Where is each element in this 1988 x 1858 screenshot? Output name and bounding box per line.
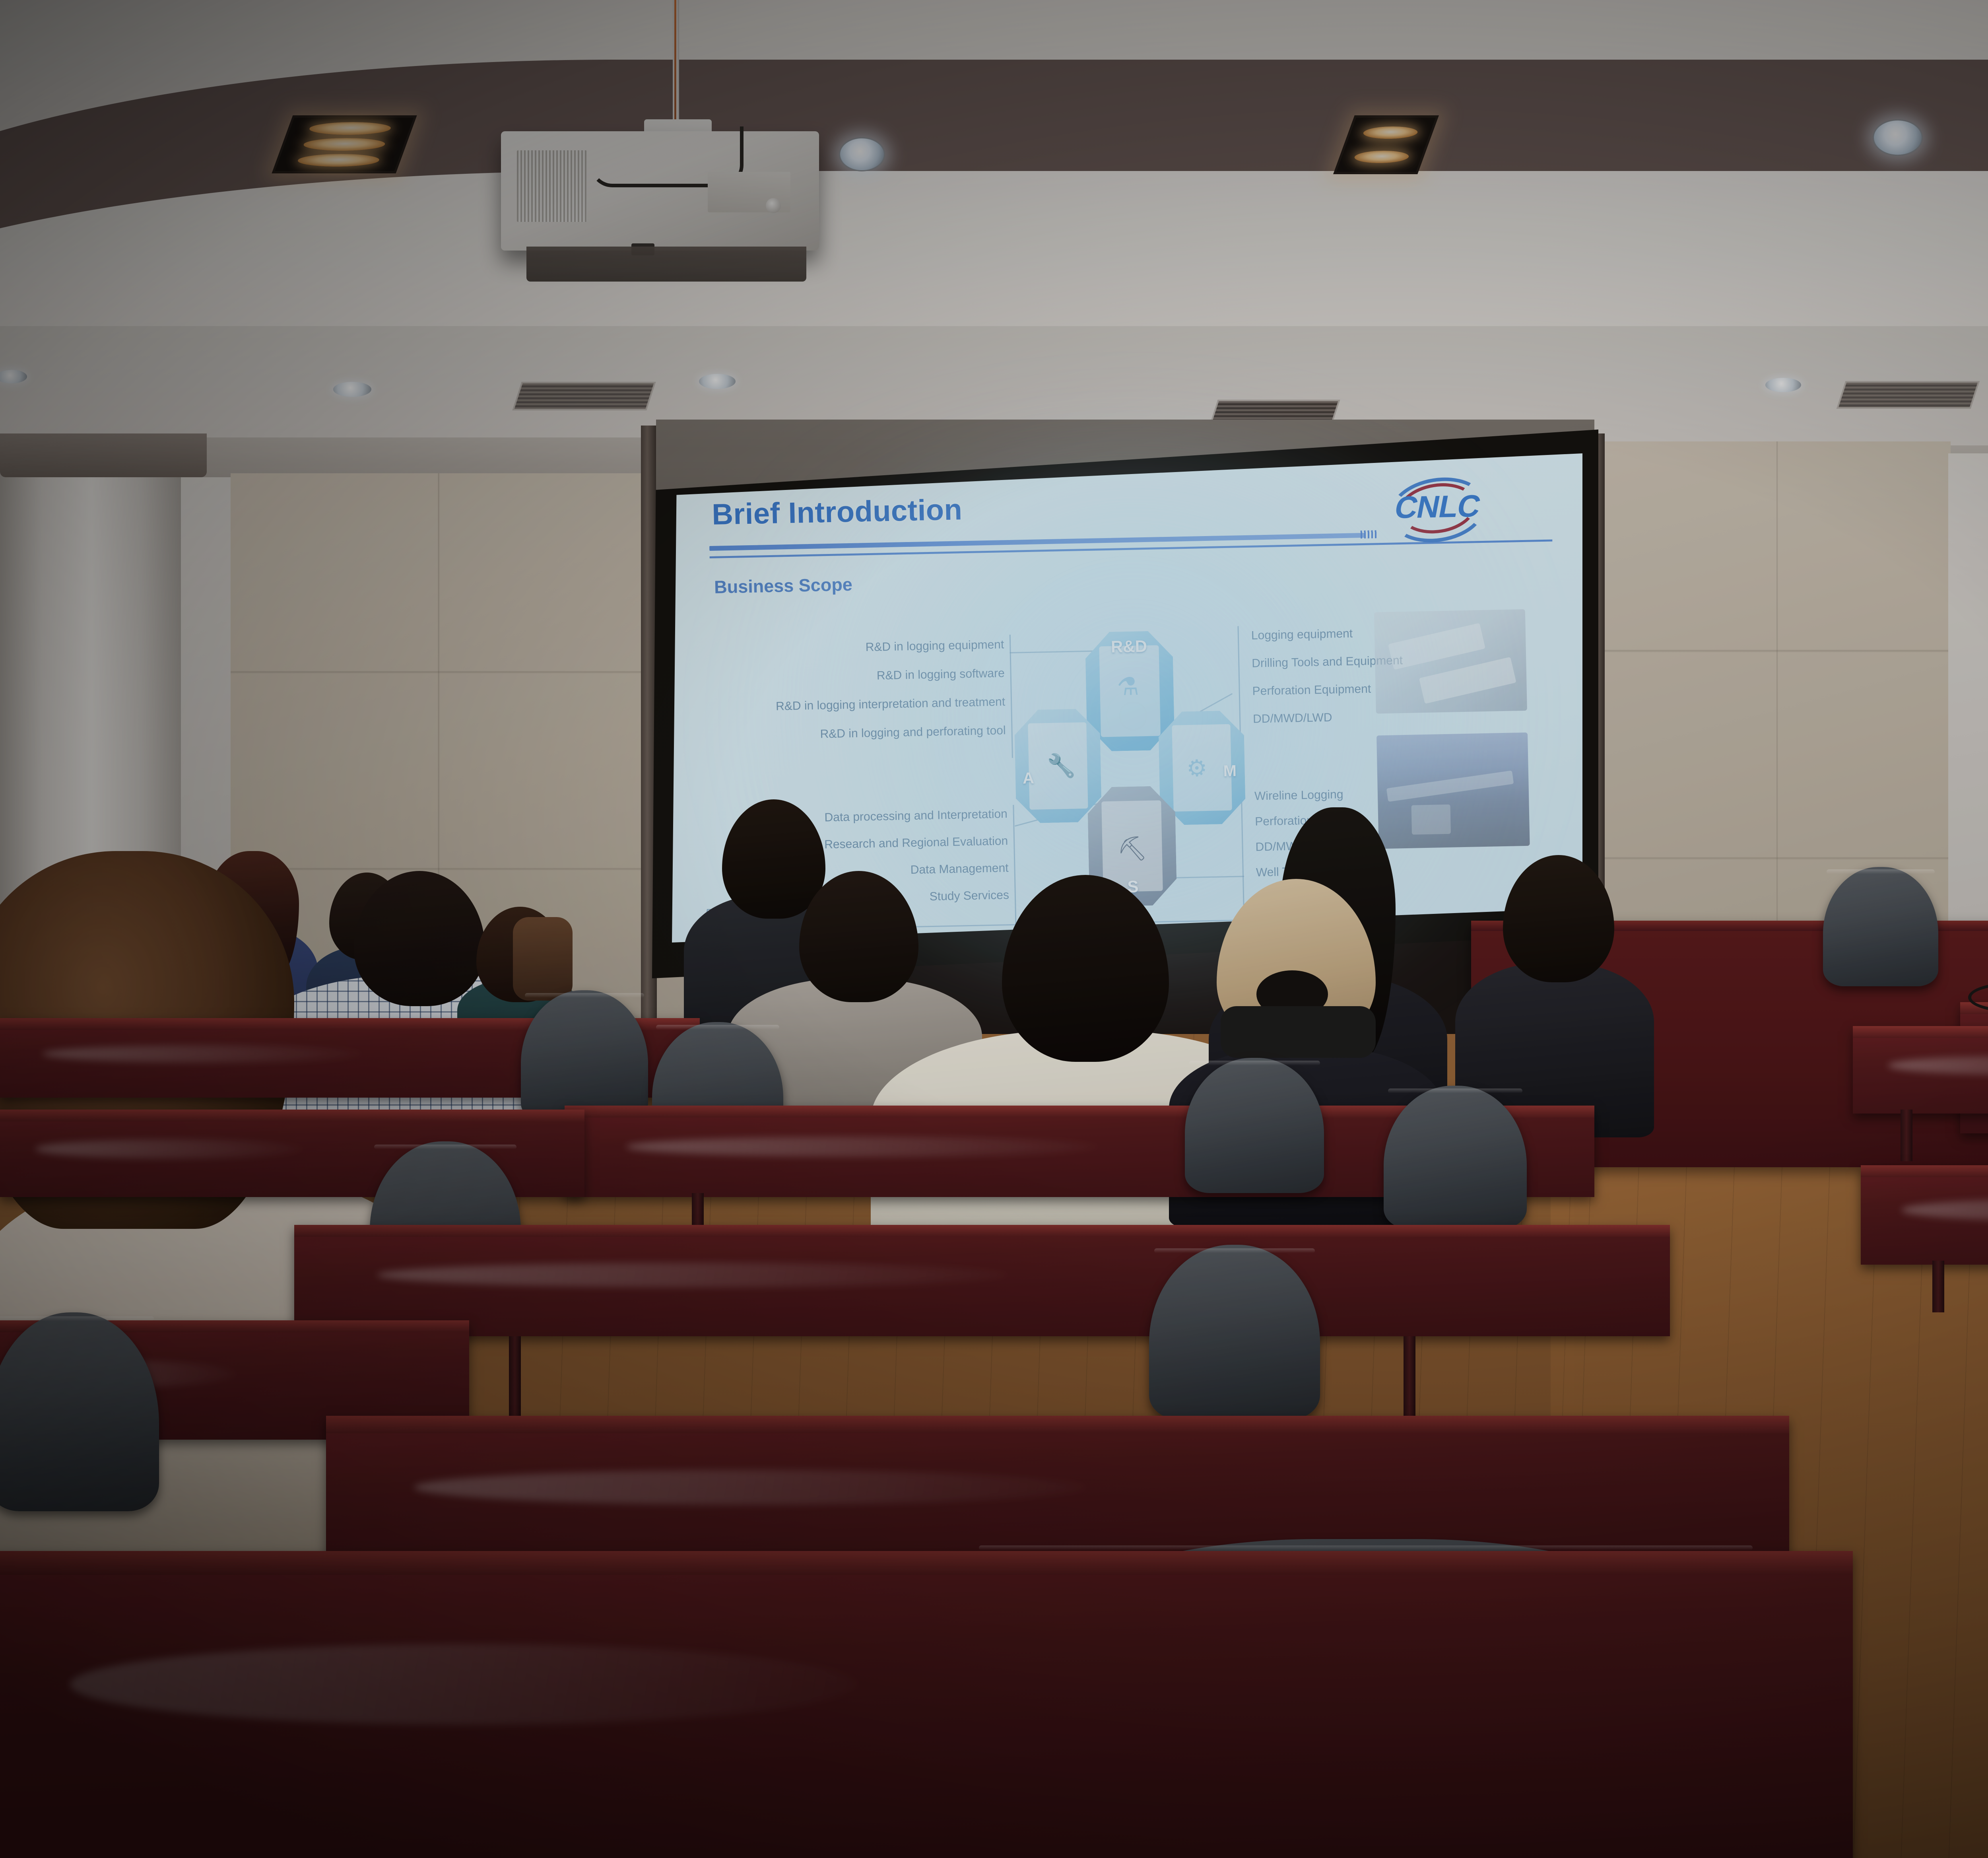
- audience-head: [1503, 855, 1614, 982]
- audience-head: [1002, 875, 1169, 1062]
- cap-strap: [1221, 1006, 1376, 1058]
- left-top-label-1: R&D in logging software: [877, 667, 1005, 682]
- downlight-near-projector-icon: [839, 137, 885, 171]
- slide-block-rd-label: R&D: [1110, 637, 1147, 657]
- desk-right-row-2: [1861, 1165, 1988, 1265]
- recessed-triple-lamp-left-icon: [272, 115, 417, 173]
- ceiling-projector: [501, 131, 819, 251]
- right-top-label-0: Logging equipment: [1251, 627, 1353, 643]
- ceiling-vent-right-icon: [1837, 381, 1980, 409]
- left-top-label-2: R&D in logging interpretation and treatm…: [776, 695, 1006, 713]
- projector-mount-pole: [673, 0, 679, 131]
- left-top-label-3: R&D in logging and perforating tool: [820, 724, 1006, 741]
- desk-center-row-2: [294, 1225, 1670, 1336]
- ceiling-downlight-2-icon: [333, 382, 371, 397]
- wrench-icon: 🔧: [1047, 752, 1076, 779]
- right-top-label-2: Perforation Equipment: [1252, 682, 1371, 698]
- desk-right-row-1: [1853, 1026, 1988, 1114]
- slide-title: Brief Introduction: [712, 492, 963, 531]
- cnlc-logo-text: CNLC: [1392, 488, 1483, 526]
- gears-icon: ⚙: [1186, 754, 1207, 782]
- ceiling-downlight-4-icon: [1765, 378, 1801, 392]
- right-bottom-label-0: Wireline Logging: [1254, 788, 1343, 803]
- right-top-label-rule: [1237, 626, 1241, 745]
- slide-block-m-label: M: [1223, 762, 1237, 781]
- slide-block-a-label: A: [1023, 770, 1035, 788]
- thumb1-shape-a: [1388, 623, 1485, 670]
- thumb1-shape-b: [1419, 657, 1516, 704]
- right-top-label-3: DD/MWD/LWD: [1253, 711, 1332, 726]
- downlight-center-right-icon: [1873, 119, 1923, 156]
- title-divider-ticks: [1361, 530, 1378, 538]
- title-divider-thick: [709, 533, 1365, 551]
- slide-block-a: A 🔧: [1014, 708, 1102, 823]
- derrick-icon: ⛏: [1117, 834, 1148, 863]
- wall-column-cap-left: [0, 433, 207, 477]
- logging-equipment-photo: [1374, 609, 1527, 714]
- ceiling-vent-left-icon: [512, 382, 656, 410]
- left-top-label-0: R&D in logging equipment: [865, 638, 1004, 654]
- flask-icon: ⚗: [1116, 672, 1139, 701]
- ceiling-downlight-3-icon: [699, 374, 736, 389]
- audience-hand: [513, 917, 573, 1001]
- thumb2-shape-a: [1386, 770, 1514, 802]
- desk-front-left: [0, 1551, 1853, 1858]
- lecture-hall-scene: Brief Introduction CNLC Business Scope R…: [0, 0, 1988, 1858]
- cnlc-logo: CNLC: [1371, 474, 1504, 540]
- slide-subtitle: Business Scope: [714, 574, 853, 598]
